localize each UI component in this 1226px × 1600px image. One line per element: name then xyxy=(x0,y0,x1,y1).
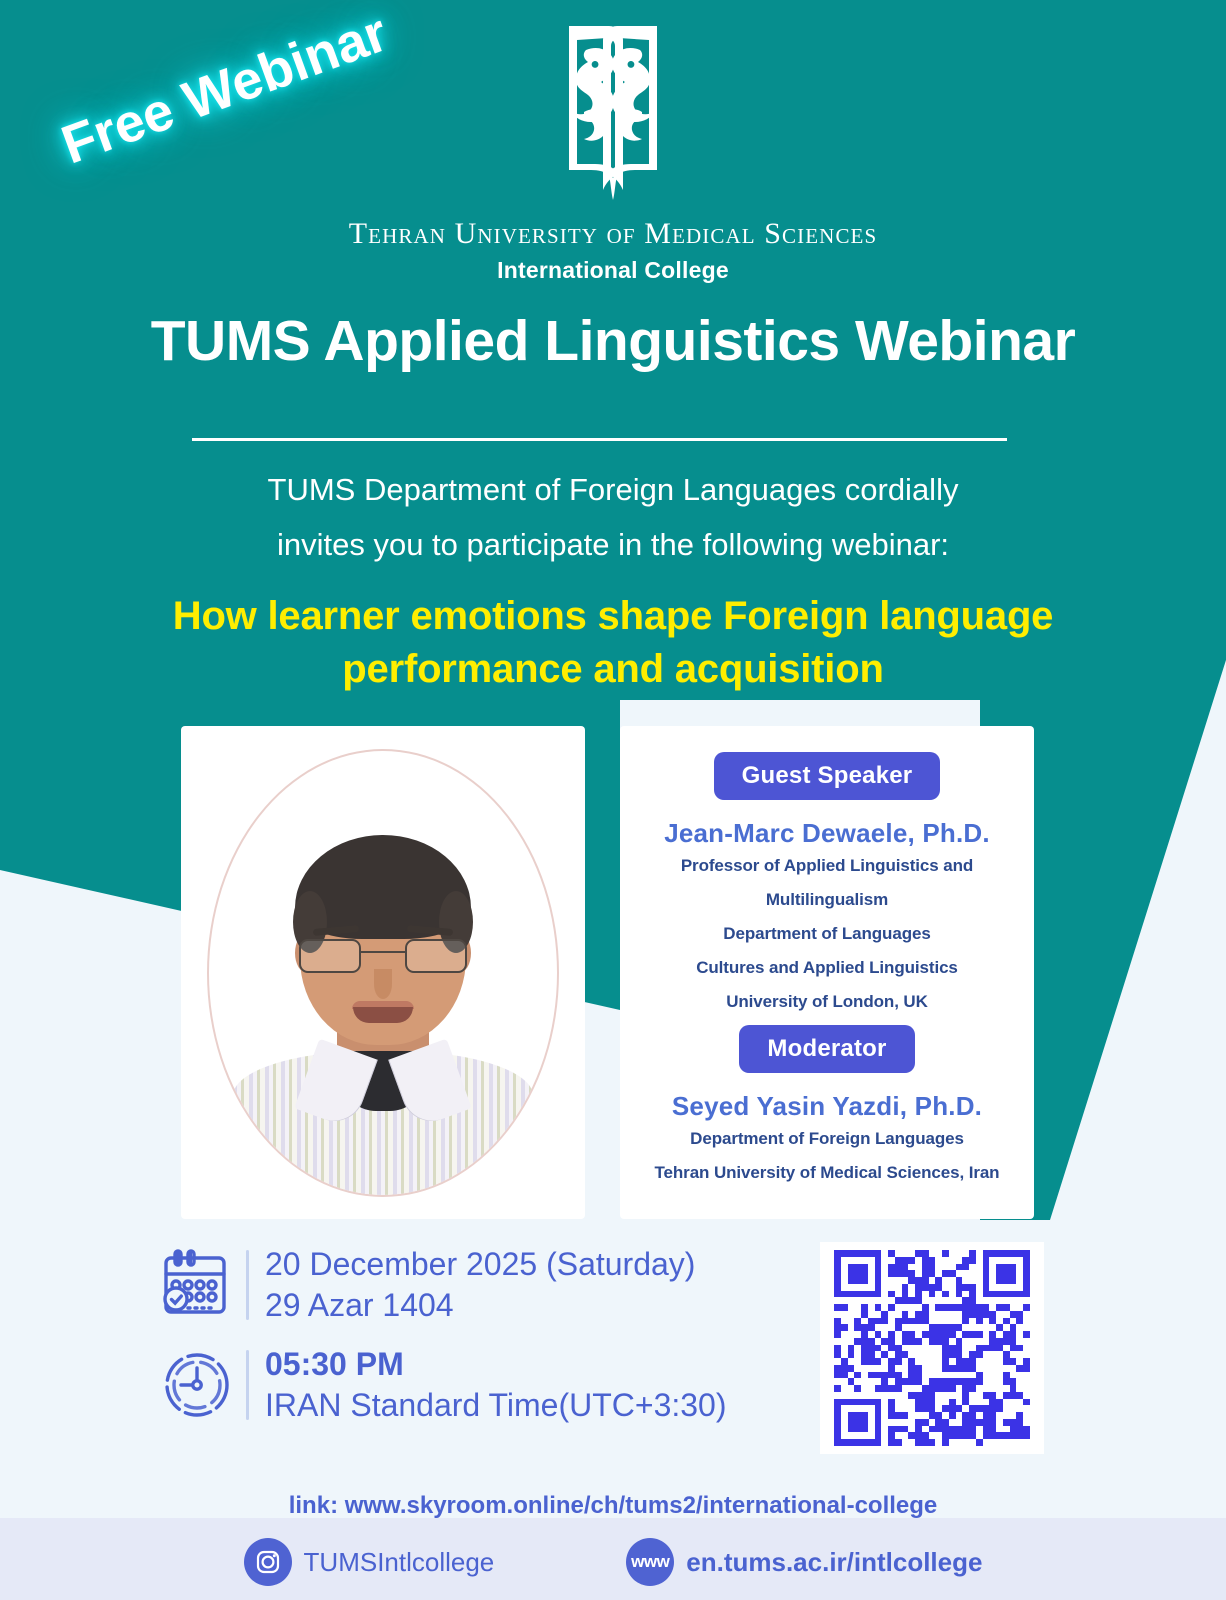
guest-speaker-name: Jean-Marc Dewaele, Ph.D. xyxy=(620,818,1034,849)
website-url[interactable]: en.tums.ac.ir/intlcollege xyxy=(686,1547,982,1578)
www-icon[interactable]: www xyxy=(626,1538,674,1586)
instagram-item[interactable]: TUMSIntlcollege xyxy=(244,1538,495,1586)
clock-icon xyxy=(152,1340,242,1430)
time-separator xyxy=(246,1350,249,1420)
moderator-affiliation-1: Department of Foreign Languages xyxy=(620,1122,1034,1156)
instagram-icon[interactable] xyxy=(244,1538,292,1586)
qr-code-card[interactable] xyxy=(820,1242,1044,1454)
topic-line-1: How learner emotions shape Foreign langu… xyxy=(0,590,1226,643)
guest-affiliation-2: Department of Languages xyxy=(620,917,1034,951)
speaker-info-card: Guest Speaker Jean-Marc Dewaele, Ph.D. P… xyxy=(620,726,1034,1219)
social-bar: TUMSIntlcollege www en.tums.ac.ir/intlco… xyxy=(0,1538,1226,1586)
guest-speaker-badge: Guest Speaker xyxy=(714,752,941,800)
calendar-icon xyxy=(152,1240,242,1330)
page-title: TUMS Applied Linguistics Webinar xyxy=(0,308,1226,374)
webinar-topic: How learner emotions shape Foreign langu… xyxy=(0,590,1226,696)
moderator-name: Seyed Yasin Yazdi, Ph.D. xyxy=(620,1091,1034,1122)
tums-book-logo-icon xyxy=(525,18,701,209)
moderator-affiliation-2: Tehran University of Medical Sciences, I… xyxy=(620,1156,1034,1190)
speaker-photo-card xyxy=(181,726,585,1219)
invitation-line-1: TUMS Department of Foreign Languages cor… xyxy=(0,462,1226,517)
speaker-portrait-oval xyxy=(207,749,559,1197)
time-row: 05:30 PM IRAN Standard Time(UTC+3:30) xyxy=(152,1340,727,1430)
website-item[interactable]: www en.tums.ac.ir/intlcollege xyxy=(626,1538,982,1586)
date-row: 20 December 2025 (Saturday) 29 Azar 1404 xyxy=(152,1240,727,1330)
university-name: Tehran University of Medical Sciences xyxy=(0,217,1226,251)
invitation-text: TUMS Department of Foreign Languages cor… xyxy=(0,462,1226,572)
time-text: 05:30 PM IRAN Standard Time(UTC+3:30) xyxy=(265,1344,727,1426)
date-persian: 29 Azar 1404 xyxy=(265,1285,695,1326)
topic-line-2: performance and acquisition xyxy=(0,643,1226,696)
schedule-block: 20 December 2025 (Saturday) 29 Azar 1404… xyxy=(152,1240,727,1440)
guest-affiliation-1: Professor of Applied Linguistics and Mul… xyxy=(620,849,1034,917)
date-text: 20 December 2025 (Saturday) 29 Azar 1404 xyxy=(265,1244,695,1326)
college-name: International College xyxy=(0,257,1226,284)
portrait-nose xyxy=(374,969,392,999)
guest-affiliation-3: Cultures and Applied Linguistics xyxy=(620,951,1034,985)
portrait-mouth xyxy=(353,1007,413,1023)
moderator-badge: Moderator xyxy=(739,1025,914,1073)
qr-code[interactable] xyxy=(834,1250,1030,1446)
invitation-line-2: invites you to participate in the follow… xyxy=(0,517,1226,572)
webinar-poster: Free Webinar Te xyxy=(0,0,1226,1600)
webinar-link[interactable]: link: www.skyroom.online/ch/tums2/intern… xyxy=(0,1492,1226,1520)
guest-affiliation-4: University of London, UK xyxy=(620,985,1034,1019)
instagram-handle[interactable]: TUMSIntlcollege xyxy=(304,1547,495,1578)
title-divider xyxy=(192,438,1007,441)
timezone-value: IRAN Standard Time(UTC+3:30) xyxy=(265,1385,727,1426)
date-gregorian: 20 December 2025 (Saturday) xyxy=(265,1244,695,1285)
date-separator xyxy=(246,1250,249,1320)
university-logo-block: Tehran University of Medical Sciences In… xyxy=(0,18,1226,284)
time-value: 05:30 PM xyxy=(265,1344,727,1385)
